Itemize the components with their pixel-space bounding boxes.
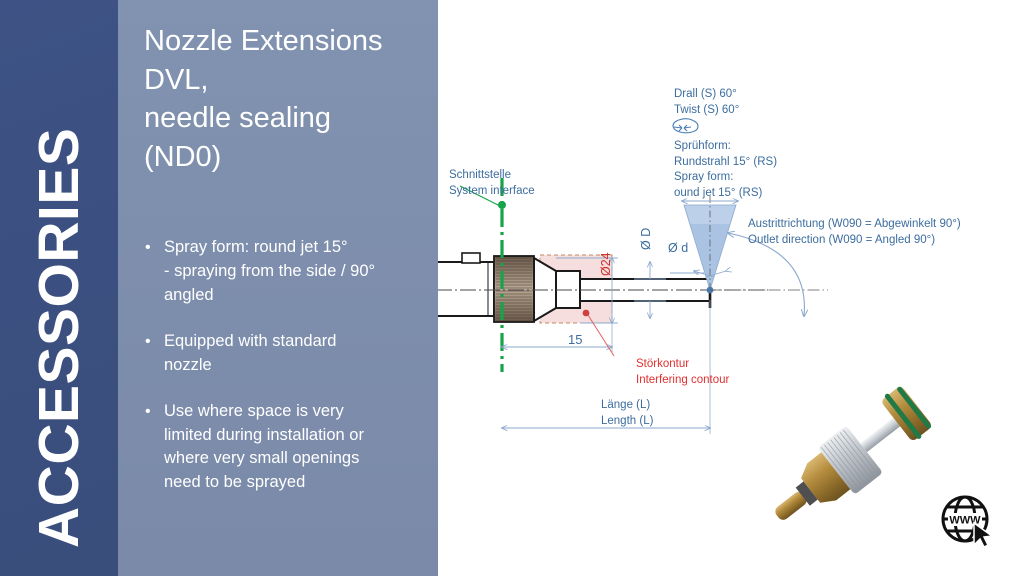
needle-shaft bbox=[860, 416, 901, 452]
bullet-line: where very small openings bbox=[164, 447, 430, 471]
bullet-line: limited during installation or bbox=[164, 424, 430, 448]
title-line-3: needle sealing bbox=[144, 99, 430, 138]
system-interface-label: Schnittstelle System interface bbox=[449, 168, 535, 199]
bullet-line: Spray form: round jet 15° bbox=[164, 236, 430, 260]
bullet-text: Use where space is very limited during i… bbox=[164, 400, 430, 496]
bullet-text: Equipped with standard nozzle bbox=[164, 330, 430, 378]
www-globe-logo[interactable]: WWW bbox=[938, 489, 1000, 551]
bullet-marker: • bbox=[140, 330, 164, 378]
outlet-direction-de: Austrittrichtung (W090 = Abgewinkelt 90°… bbox=[748, 217, 961, 233]
bullet-line: nozzle bbox=[164, 354, 430, 378]
slide-root: ACCESSORIES Nozzle Extensions DVL, needl… bbox=[0, 0, 1024, 576]
twist-en: Twist (S) 60° bbox=[674, 103, 739, 119]
spray-form-de-value: Rundstrahl 15° (RS) bbox=[674, 155, 777, 171]
interfering-contour-en: Interfering contour bbox=[636, 373, 729, 389]
swirl-icon bbox=[673, 119, 698, 133]
nozzle-assembly bbox=[759, 384, 936, 541]
dim-D-label: Ø D bbox=[638, 228, 655, 250]
nozzle-rear-body bbox=[438, 262, 494, 316]
bullet-line: - spraying from the side / 90° bbox=[164, 260, 430, 284]
system-interface-en: System interface bbox=[449, 184, 535, 200]
dim-d24-label: Ø24 bbox=[598, 252, 615, 276]
interfering-contour-de: Störkontur bbox=[636, 357, 729, 373]
bullet-list: • Spray form: round jet 15° - spraying f… bbox=[140, 236, 430, 517]
bullet-line: angled bbox=[164, 284, 430, 308]
rail-category-label: ACCESSORIES bbox=[0, 0, 118, 576]
list-item: • Use where space is very limited during… bbox=[140, 400, 430, 496]
title-line-4: (ND0) bbox=[144, 138, 430, 177]
nozzle-rear-tab bbox=[462, 253, 480, 263]
length-label: Länge (L) Length (L) bbox=[601, 398, 653, 429]
bullet-line: Equipped with standard bbox=[164, 330, 430, 354]
bullet-line: Use where space is very bbox=[164, 400, 430, 424]
bullet-line: need to be sprayed bbox=[164, 471, 430, 495]
spray-form-en-label: Spray form: bbox=[674, 170, 777, 186]
bullet-text: Spray form: round jet 15° - spraying fro… bbox=[164, 236, 430, 308]
bullet-marker: • bbox=[140, 400, 164, 496]
outlet-direction-en: Outlet direction (W090 = Angled 90°) bbox=[748, 233, 961, 249]
list-item: • Spray form: round jet 15° - spraying f… bbox=[140, 236, 430, 308]
interfering-contour-label: Störkontur Interfering contour bbox=[636, 357, 729, 388]
nozzle-step bbox=[556, 271, 580, 308]
product-photo bbox=[745, 378, 945, 548]
length-en: Length (L) bbox=[601, 414, 653, 430]
spray-form-de-label: Sprühform: bbox=[674, 139, 777, 155]
dim-d-label: Ø d bbox=[668, 240, 688, 257]
twist-de: Drall (S) 60° bbox=[674, 87, 739, 103]
title-line-1: Nozzle Extensions bbox=[144, 22, 430, 61]
spray-form-label: Sprühform: Rundstrahl 15° (RS) Spray for… bbox=[674, 139, 777, 201]
technical-drawing-area: Schnittstelle System interface Drall (S)… bbox=[438, 0, 1024, 576]
twist-label: Drall (S) 60° Twist (S) 60° bbox=[674, 87, 739, 118]
dim-15-label: 15 bbox=[568, 331, 582, 349]
list-item: • Equipped with standard nozzle bbox=[140, 330, 430, 378]
bullet-marker: • bbox=[140, 236, 164, 308]
spray-form-en-value: ound jet 15° (RS) bbox=[674, 186, 777, 202]
length-de: Länge (L) bbox=[601, 398, 653, 414]
content-panel: Nozzle Extensions DVL, needle sealing (N… bbox=[118, 0, 438, 576]
system-interface-de: Schnittstelle bbox=[449, 168, 535, 184]
title-line-2: DVL, bbox=[144, 61, 430, 100]
outlet-direction-label: Austrittrichtung (W090 = Abgewinkelt 90°… bbox=[748, 217, 961, 248]
cursor-arrow-icon bbox=[974, 523, 992, 547]
sidebar-rail: ACCESSORIES bbox=[0, 0, 118, 576]
page-title: Nozzle Extensions DVL, needle sealing (N… bbox=[144, 22, 430, 176]
